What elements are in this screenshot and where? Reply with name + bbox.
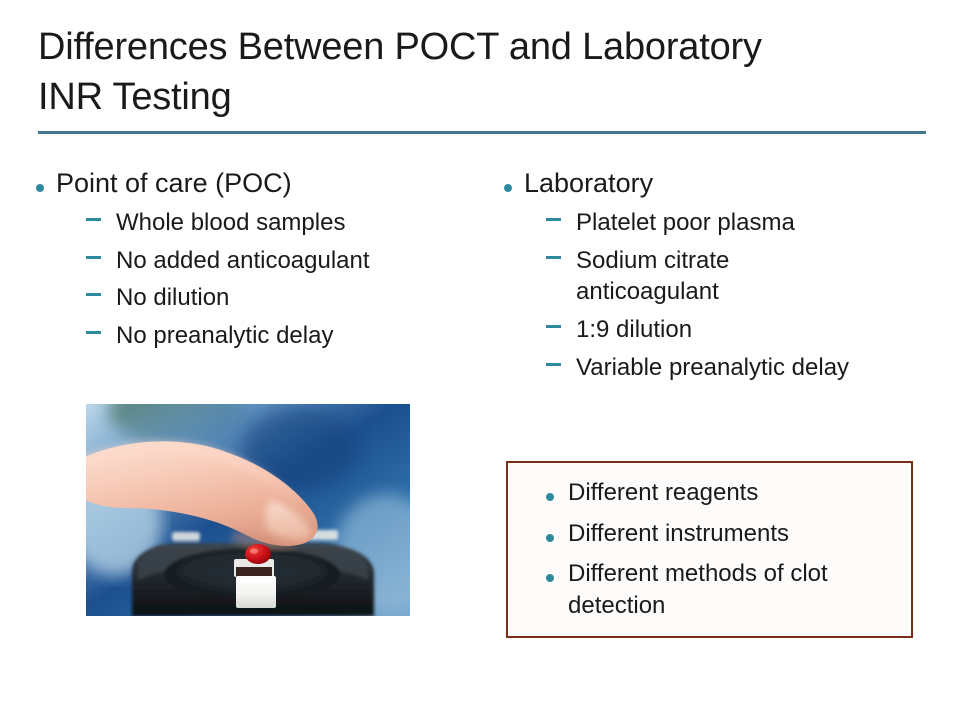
callout-box: Different reagents Different instruments… — [506, 461, 913, 638]
bullet-dot-icon — [36, 166, 56, 197]
bullet-dot-icon — [546, 518, 568, 547]
column-heading: Point of care (POC) — [56, 166, 292, 201]
list-item: Different instruments — [546, 518, 901, 550]
title-divider — [38, 131, 926, 134]
sub-item-list: Whole blood samples No added anticoagula… — [36, 207, 486, 352]
column-laboratory: Laboratory Platelet poor plasma Sodium c… — [504, 166, 944, 389]
dash-bullet-icon — [546, 245, 576, 259]
list-item-label: Sodium citrate anticoagulant — [576, 245, 776, 308]
list-item: Variable preanalytic delay — [504, 352, 944, 384]
sub-item-list: Platelet poor plasma Sodium citrate anti… — [504, 207, 944, 383]
dash-bullet-icon — [546, 314, 576, 328]
dash-bullet-icon — [86, 207, 116, 221]
bullet-dot-icon — [504, 166, 524, 197]
list-item-label: Different reagents — [568, 477, 758, 509]
list-item-label: No added anticoagulant — [116, 245, 370, 277]
callout-list: Different reagents Different instruments… — [508, 463, 911, 622]
bullet-dot-icon — [546, 477, 568, 506]
page-title: Differences Between POCT and Laboratory … — [38, 22, 918, 122]
list-item-label: Different instruments — [568, 518, 789, 550]
list-item: No added anticoagulant — [36, 245, 486, 277]
column-point-of-care: Point of care (POC) Whole blood samples … — [36, 166, 486, 358]
list-item-label: Variable preanalytic delay — [576, 352, 849, 384]
list-item: Different methods of clot detection — [546, 558, 901, 621]
list-item: Whole blood samples — [36, 207, 486, 239]
list-item-label: Different methods of clot detection — [568, 558, 858, 621]
list-item-label: Whole blood samples — [116, 207, 345, 239]
dash-bullet-icon — [546, 207, 576, 221]
dash-bullet-icon — [546, 352, 576, 366]
bullet-dot-icon — [546, 558, 568, 587]
list-item-label: 1:9 dilution — [576, 314, 692, 346]
column-heading-row: Point of care (POC) — [36, 166, 486, 201]
dash-bullet-icon — [86, 245, 116, 259]
list-item-label: No preanalytic delay — [116, 320, 333, 352]
list-item-label: Platelet poor plasma — [576, 207, 795, 239]
list-item-label: No dilution — [116, 282, 229, 314]
column-heading: Laboratory — [524, 166, 653, 201]
list-item: Sodium citrate anticoagulant — [504, 245, 944, 308]
dash-bullet-icon — [86, 320, 116, 334]
list-item: Different reagents — [546, 477, 901, 509]
list-item: 1:9 dilution — [504, 314, 944, 346]
fingerstick-photo — [86, 404, 410, 616]
dash-bullet-icon — [86, 282, 116, 296]
list-item: No dilution — [36, 282, 486, 314]
list-item: No preanalytic delay — [36, 320, 486, 352]
column-heading-row: Laboratory — [504, 166, 944, 201]
slide: Differences Between POCT and Laboratory … — [0, 0, 960, 720]
fingerstick-illustration — [86, 404, 410, 616]
list-item: Platelet poor plasma — [504, 207, 944, 239]
